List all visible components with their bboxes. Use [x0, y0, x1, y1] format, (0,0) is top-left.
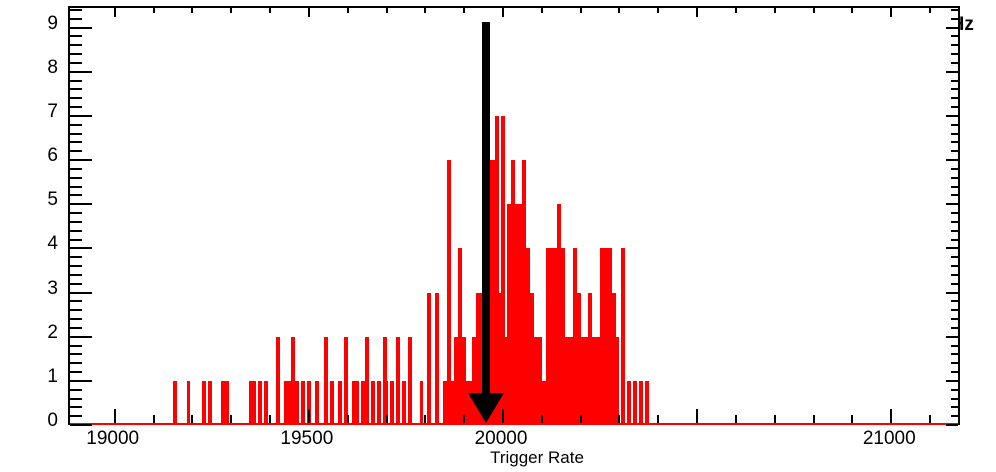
y-tick-minor-right: [951, 389, 958, 391]
x-tick-minor: [657, 415, 659, 423]
histogram-bar: [627, 381, 631, 425]
histogram-bar: [402, 381, 406, 425]
x-tick-major: [114, 409, 116, 423]
histogram-bar: [258, 381, 262, 425]
x-tick-major-top: [114, 8, 116, 17]
y-tick-minor-right: [951, 212, 958, 214]
y-tick-minor-right: [951, 371, 958, 373]
histogram-bar: [435, 293, 439, 425]
y-tick-minor: [70, 389, 82, 391]
x-tick-minor: [580, 415, 582, 423]
x-tick-minor-top: [230, 8, 232, 13]
y-tick-minor: [70, 88, 82, 90]
y-tick-minor: [70, 327, 82, 329]
y-tick-minor-right: [951, 97, 958, 99]
y-tick-minor-right: [951, 80, 958, 82]
histogram-bar: [371, 381, 375, 425]
y-tick-minor: [70, 345, 82, 347]
chart-root: Current: 19955.02 Hz 0123456789190001950…: [0, 0, 996, 472]
y-tick-minor: [70, 44, 82, 46]
x-tick-minor-top: [463, 8, 465, 13]
y-tick-major: [70, 247, 92, 249]
y-tick-major-right: [946, 380, 958, 382]
y-tick-minor-right: [951, 309, 958, 311]
histogram-bar: [276, 337, 280, 425]
x-tick-minor: [386, 415, 388, 423]
y-tick-minor-right: [951, 345, 958, 347]
y-tick-minor-right: [951, 53, 958, 55]
y-tick-minor-right: [951, 124, 958, 126]
histogram-bar: [408, 337, 412, 425]
y-tick-minor-right: [951, 35, 958, 37]
y-tick-major-right: [946, 115, 958, 117]
y-tick-minor: [70, 371, 82, 373]
y-tick-minor: [70, 318, 82, 320]
y-tick-minor-right: [951, 398, 958, 400]
x-tick-minor: [851, 415, 853, 423]
x-tick-minor: [813, 415, 815, 423]
y-tick-label: 2: [0, 322, 58, 344]
histogram-bar: [365, 337, 369, 425]
histogram-bar: [208, 381, 212, 425]
y-tick-major-right: [946, 27, 958, 29]
x-tick-minor-top: [424, 8, 426, 13]
y-tick-major: [70, 203, 92, 205]
y-tick-minor-right: [951, 318, 958, 320]
histogram-bar: [390, 381, 394, 425]
x-tick-major: [696, 409, 698, 423]
y-tick-minor-right: [951, 239, 958, 241]
y-tick-minor-right: [951, 194, 958, 196]
y-tick-minor: [70, 177, 82, 179]
x-tick-label: 19500: [247, 428, 367, 450]
y-tick-major-right: [946, 71, 958, 73]
y-tick-minor-right: [951, 186, 958, 188]
x-tick-minor-top: [618, 8, 620, 13]
y-tick-minor-right: [951, 62, 958, 64]
y-tick-major-right: [946, 292, 958, 294]
histogram-bar: [173, 381, 177, 425]
y-tick-major: [70, 27, 92, 29]
y-tick-minor-right: [951, 141, 958, 143]
x-axis-title-text: Trigger Rate: [490, 448, 584, 467]
x-tick-minor: [463, 415, 465, 423]
y-tick-minor-right: [951, 9, 958, 11]
x-tick-minor-top: [347, 8, 349, 13]
y-tick-label: 9: [0, 13, 58, 35]
histogram-bar: [338, 381, 342, 425]
y-tick-minor-right: [951, 133, 958, 135]
y-tick-major-right: [946, 203, 958, 205]
y-tick-minor: [70, 106, 82, 108]
y-tick-minor: [70, 415, 82, 417]
x-tick-minor-top: [153, 8, 155, 13]
x-tick-minor: [191, 415, 193, 423]
y-tick-minor: [70, 18, 82, 20]
current-rate-arrow-head: [468, 393, 504, 423]
y-tick-minor: [70, 141, 82, 143]
y-tick-minor: [70, 35, 82, 37]
histogram-bar: [253, 381, 257, 425]
current-rate-arrow: [482, 22, 490, 393]
x-tick-minor-top: [929, 8, 931, 13]
y-tick-minor: [70, 300, 82, 302]
y-tick-minor: [70, 256, 82, 258]
y-tick-minor: [70, 186, 82, 188]
y-tick-minor-right: [951, 283, 958, 285]
y-tick-minor-right: [951, 168, 958, 170]
histogram-bar: [324, 337, 328, 425]
y-tick-label: 7: [0, 101, 58, 123]
y-tick-minor-right: [951, 177, 958, 179]
histogram-bar: [301, 381, 305, 425]
x-tick-label: 21000: [829, 428, 949, 450]
x-tick-minor: [424, 415, 426, 423]
x-tick-minor: [153, 415, 155, 423]
x-tick-minor: [347, 415, 349, 423]
x-tick-minor-top: [386, 8, 388, 13]
y-tick-major: [70, 336, 92, 338]
histogram-bars: [70, 8, 962, 427]
y-tick-minor: [70, 212, 82, 214]
y-tick-minor: [70, 265, 82, 267]
y-tick-minor: [70, 133, 82, 135]
histogram-bar: [295, 381, 299, 425]
histogram-bar: [633, 381, 637, 425]
y-tick-label: 8: [0, 57, 58, 79]
histogram-bar: [639, 381, 643, 425]
histogram-bar: [202, 381, 206, 425]
x-tick-minor-top: [541, 8, 543, 13]
y-tick-major: [70, 424, 92, 426]
x-tick-label: 20000: [441, 428, 561, 450]
histogram-bar: [225, 381, 229, 425]
x-tick-minor-top: [657, 8, 659, 13]
y-tick-minor: [70, 194, 82, 196]
plot-frame: [68, 6, 960, 425]
histogram-baseline: [70, 423, 958, 425]
y-tick-minor-right: [951, 18, 958, 20]
y-tick-minor-right: [951, 415, 958, 417]
y-tick-minor: [70, 283, 82, 285]
histogram-bar: [427, 293, 431, 425]
y-tick-minor-right: [951, 300, 958, 302]
x-tick-minor: [541, 415, 543, 423]
y-tick-major-right: [946, 247, 958, 249]
y-tick-minor: [70, 362, 82, 364]
y-tick-minor-right: [951, 106, 958, 108]
y-tick-minor-right: [951, 256, 958, 258]
x-tick-minor-top: [735, 8, 737, 13]
y-tick-major-right: [946, 336, 958, 338]
y-tick-minor-right: [951, 274, 958, 276]
histogram-bar: [187, 381, 191, 425]
histogram-bar: [645, 381, 649, 425]
y-tick-label: 3: [0, 278, 58, 300]
histogram-bar: [344, 337, 348, 425]
y-tick-minor-right: [951, 88, 958, 90]
x-tick-minor: [735, 415, 737, 423]
x-tick-minor-top: [774, 8, 776, 13]
x-tick-major: [308, 409, 310, 423]
y-tick-minor: [70, 150, 82, 152]
histogram-bar: [420, 381, 424, 425]
y-tick-label: 1: [0, 366, 58, 388]
y-tick-label: 4: [0, 233, 58, 255]
y-tick-minor: [70, 221, 82, 223]
y-tick-minor: [70, 53, 82, 55]
y-tick-minor-right: [951, 230, 958, 232]
y-tick-label: 5: [0, 189, 58, 211]
y-tick-minor-right: [951, 327, 958, 329]
histogram-bar: [264, 381, 268, 425]
x-tick-major-top: [308, 8, 310, 17]
x-tick-minor-top: [191, 8, 193, 13]
y-tick-label: 6: [0, 145, 58, 167]
x-tick-major: [890, 409, 892, 423]
histogram-bar: [355, 381, 359, 425]
x-tick-minor-top: [851, 8, 853, 13]
y-tick-minor: [70, 9, 82, 11]
y-tick-major-right: [946, 424, 958, 426]
y-tick-minor-right: [951, 362, 958, 364]
histogram-bar: [621, 248, 625, 425]
y-tick-minor: [70, 309, 82, 311]
x-tick-minor: [929, 415, 931, 423]
y-tick-minor: [70, 124, 82, 126]
y-tick-minor-right: [951, 44, 958, 46]
y-tick-minor-right: [951, 353, 958, 355]
y-tick-major-right: [946, 159, 958, 161]
y-tick-minor-right: [951, 265, 958, 267]
y-tick-major: [70, 115, 92, 117]
y-tick-minor-right: [951, 406, 958, 408]
x-tick-major-top: [696, 8, 698, 17]
y-tick-minor: [70, 80, 82, 82]
y-tick-minor: [70, 406, 82, 408]
y-tick-minor-right: [951, 150, 958, 152]
x-tick-major-top: [502, 8, 504, 17]
histogram-bar: [616, 337, 620, 425]
y-tick-minor: [70, 97, 82, 99]
histogram-bar: [377, 381, 381, 425]
histogram-bar: [396, 337, 400, 425]
x-tick-minor: [230, 415, 232, 423]
y-tick-minor: [70, 353, 82, 355]
y-tick-minor: [70, 398, 82, 400]
y-tick-minor: [70, 168, 82, 170]
x-tick-minor: [618, 415, 620, 423]
x-tick-minor: [774, 415, 776, 423]
y-tick-major: [70, 292, 92, 294]
x-axis-title: Trigger Rate: [0, 448, 996, 468]
x-tick-minor-top: [580, 8, 582, 13]
histogram-bar: [330, 381, 334, 425]
y-tick-minor: [70, 62, 82, 64]
y-tick-minor-right: [951, 221, 958, 223]
x-tick-major-top: [890, 8, 892, 17]
x-tick-major: [502, 409, 504, 423]
x-tick-label: 19000: [53, 428, 173, 450]
y-tick-minor: [70, 274, 82, 276]
y-tick-minor: [70, 239, 82, 241]
y-tick-label: 0: [0, 410, 58, 432]
y-tick-major: [70, 159, 92, 161]
y-tick-minor: [70, 230, 82, 232]
x-tick-minor-top: [269, 8, 271, 13]
x-tick-minor: [269, 415, 271, 423]
x-tick-minor-top: [813, 8, 815, 13]
histogram-bar: [315, 381, 319, 425]
y-tick-major: [70, 71, 92, 73]
y-tick-major: [70, 380, 92, 382]
